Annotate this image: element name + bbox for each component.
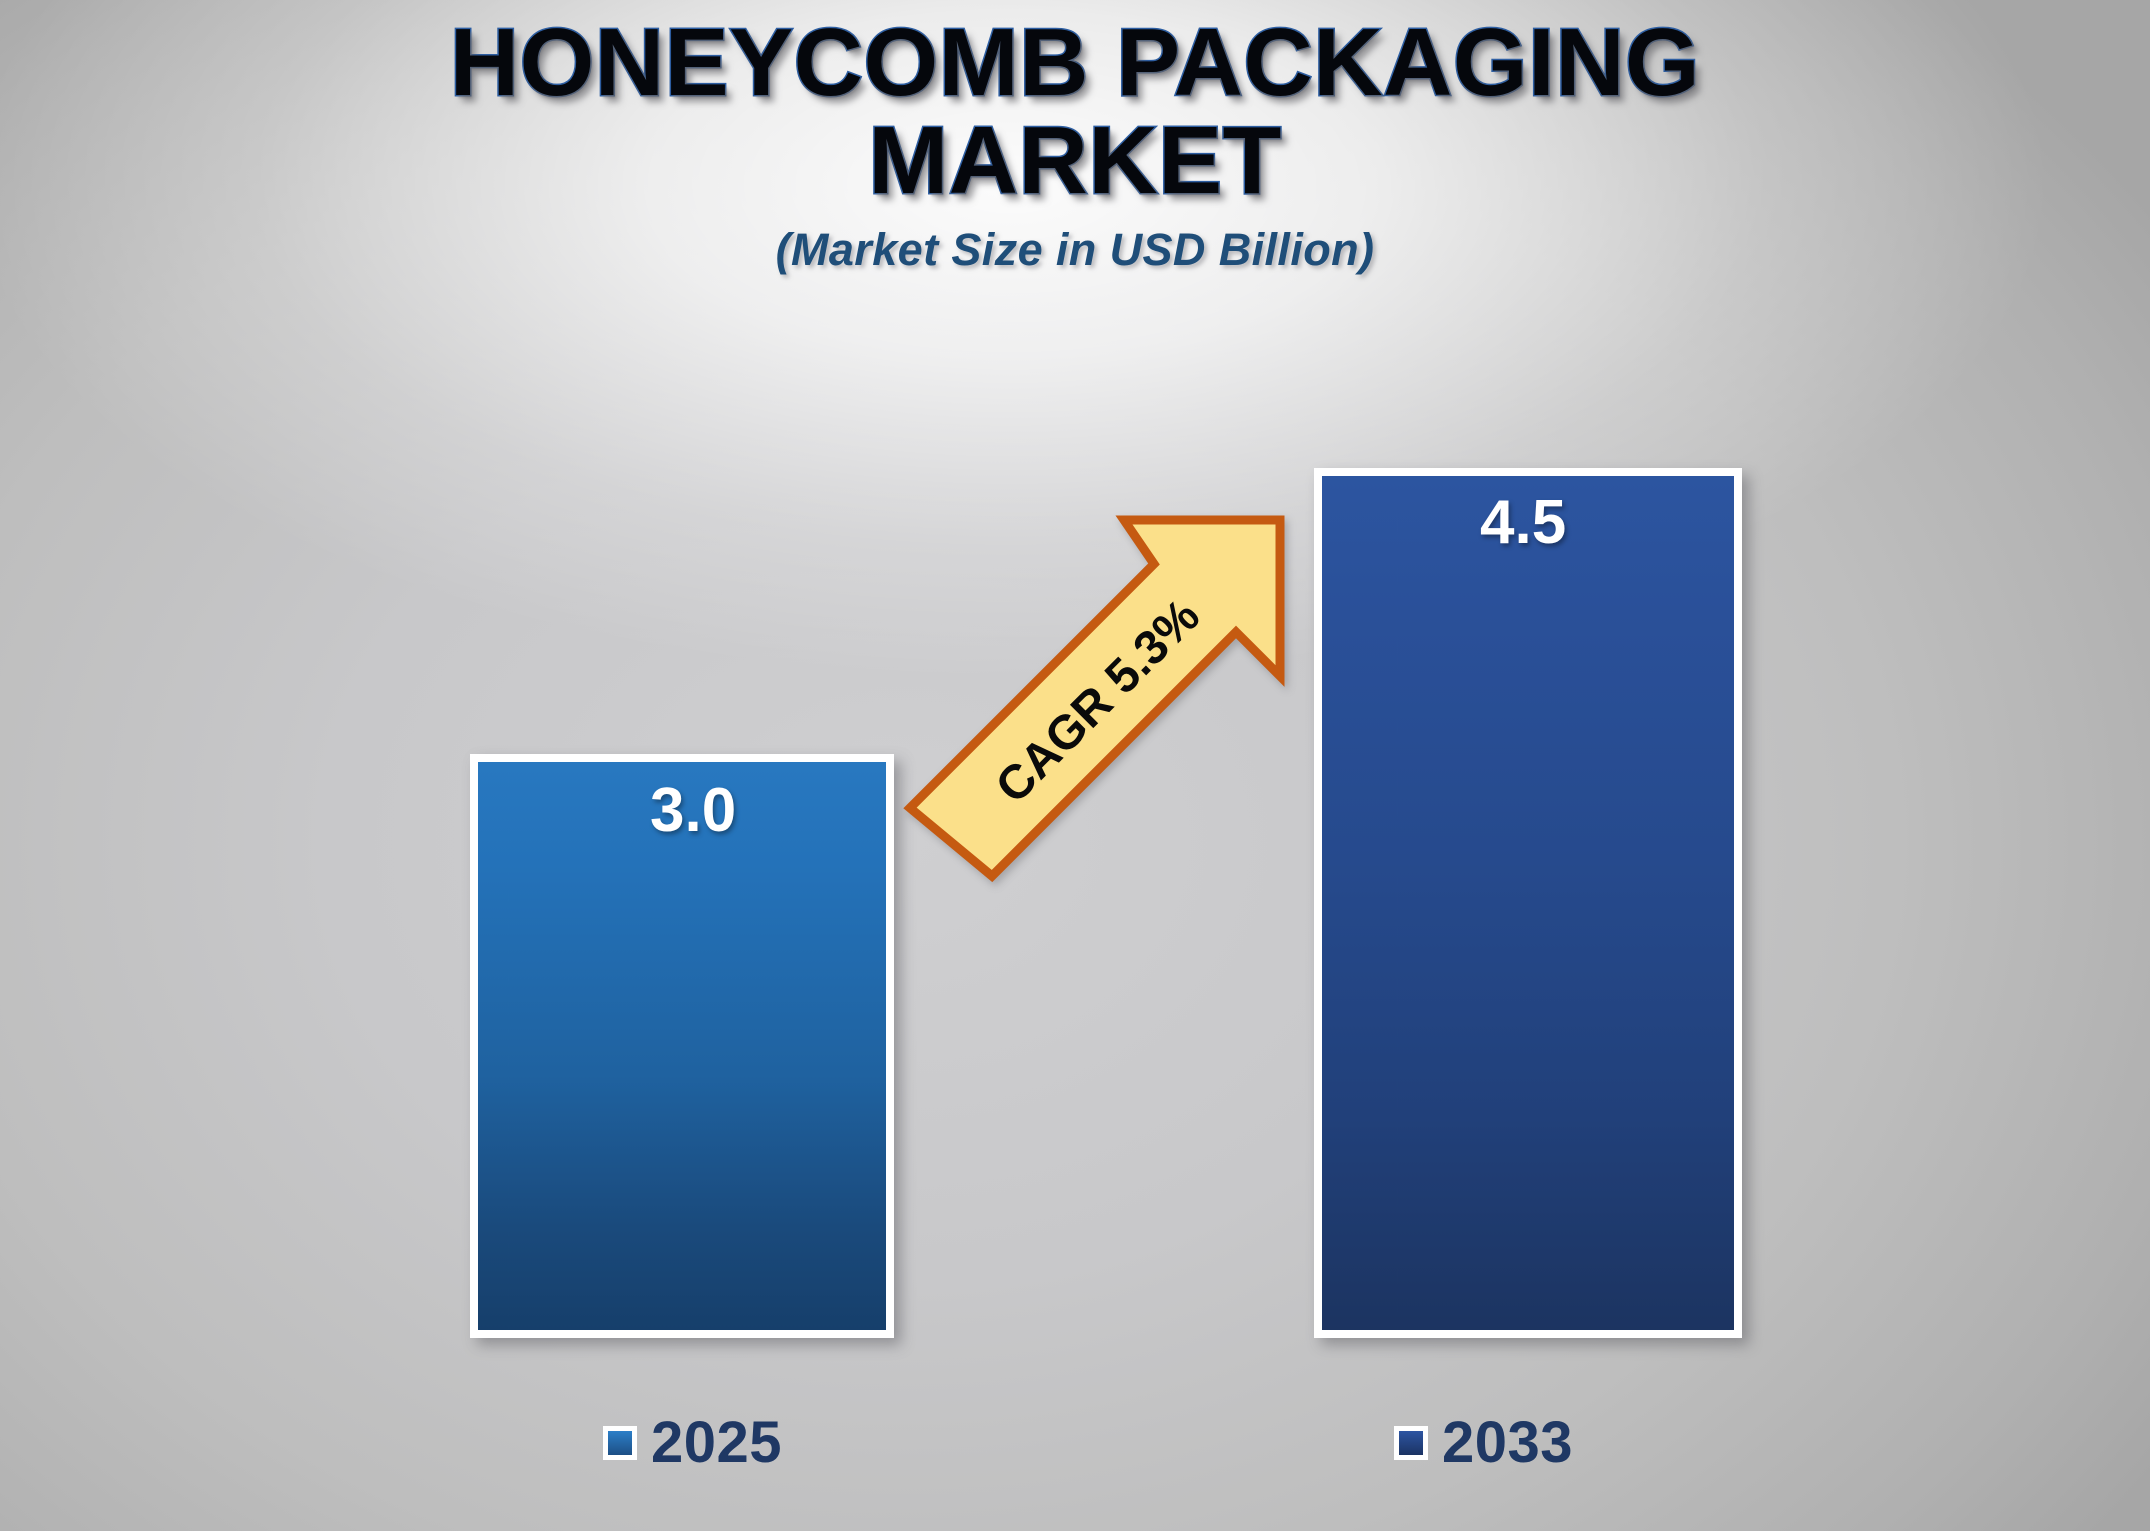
chart-legend: 2025 2033: [0, 1414, 2150, 1504]
bar-value-2025: 3.0: [650, 775, 736, 846]
up-right-arrow-icon: [886, 484, 1306, 904]
legend-item-2033[interactable]: 2033: [1394, 1414, 1573, 1472]
bar-value-2033: 4.5: [1480, 487, 1566, 558]
plot-area: 3.0 4.5 CAGR 5.3%: [0, 0, 2150, 1531]
bar-2033[interactable]: [1314, 468, 1742, 1338]
legend-swatch-icon-2025: [603, 1426, 637, 1460]
legend-label-2033: 2033: [1442, 1414, 1573, 1472]
legend-label-2025: 2025: [651, 1414, 782, 1472]
legend-item-2025[interactable]: 2025: [603, 1414, 782, 1472]
legend-swatch-icon-2033: [1394, 1426, 1428, 1460]
chart-canvas: HONEYCOMB PACKAGING MARKET (Market Size …: [0, 0, 2150, 1531]
